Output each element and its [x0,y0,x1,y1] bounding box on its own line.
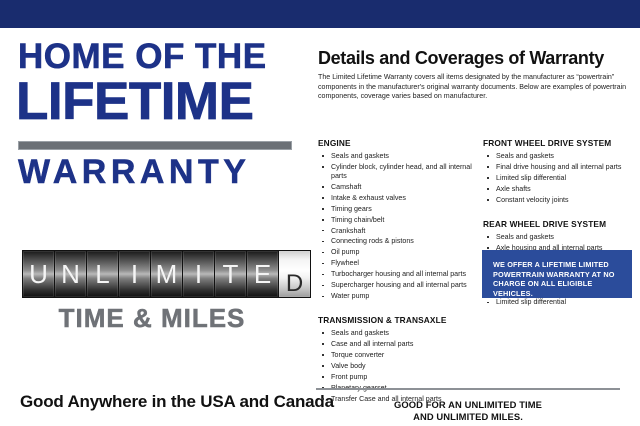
headline-divider-bar [18,141,292,150]
warranty-banner: HOME OF THE LIFETIME WARRANTY U N L I M … [0,0,640,426]
bottom-divider [316,388,620,390]
odometer-tile: I [183,251,214,297]
odometer-tile: N [55,251,86,297]
bottom-note-line-2: AND UNLIMITED MILES. [316,411,620,423]
coverage-list-engine: Seals and gaskets Cylinder block, cylind… [318,152,478,301]
list-item: Valve body [318,362,478,371]
top-blue-bar [0,0,640,28]
headline-warranty: WARRANTY [18,153,303,191]
odometer-tile: U [23,251,54,297]
list-item: Case and all internal parts [318,340,478,349]
odometer-tile-char: N [55,261,86,287]
bottom-note-line-1: GOOD FOR AN UNLIMITED TIME [316,399,620,411]
list-item: Turbocharger housing and all internal pa… [318,270,478,279]
odometer-tile-char: M [151,261,182,287]
good-anywhere-footer: Good Anywhere in the USA and Canada [20,392,300,412]
odometer-tile: E [247,251,278,297]
list-item: Crankshaft [318,227,478,236]
odometer-tile-char: I [183,261,214,287]
list-item: Camshaft [318,183,478,192]
odometer-tile-char: U [23,261,54,287]
odometer-tile-char: L [87,261,118,287]
odometer-tile-rolling: D [279,251,310,297]
list-item: Limited slip differential [483,174,640,183]
list-item: Timing gears [318,205,478,214]
section-heading-rear-wheel-drive: REAR WHEEL DRIVE SYSTEM [483,219,640,230]
list-item: Oil pump [318,248,478,257]
headline-lifetime: LIFETIME [16,75,306,128]
list-item: Final drive housing and all internal par… [483,163,640,172]
odometer-tile-char: E [247,261,278,287]
callout-box: WE OFFER A LIFETIME LIMITED POWERTRAIN W… [482,250,632,298]
list-item: Front pump [318,373,478,382]
list-item: Cylinder block, cylinder head, and all i… [318,163,478,180]
list-item: Limited slip differential [483,298,640,307]
odometer-tile: M [151,251,182,297]
list-item: Water pump [318,292,478,301]
odometer-tile-char: T [215,261,246,287]
section-heading-engine: ENGINE [318,138,478,149]
list-item: Axle shafts [483,185,640,194]
callout-text: WE OFFER A LIFETIME LIMITED POWERTRAIN W… [493,260,625,298]
list-item: Connecting rods & pistons [318,237,478,246]
headline-home-of-the: HOME OF THE [18,39,298,74]
list-item: Supercharger housing and all internal pa… [318,281,478,290]
right-details-panel: Details and Coverages of Warranty The Li… [310,28,640,426]
list-item: Flywheel [318,259,478,268]
coverage-list-transmission: Seals and gaskets Case and all internal … [318,329,478,404]
odometer-tile: T [215,251,246,297]
odometer-tile-char: I [119,261,150,287]
section-heading-transmission: TRANSMISSION & TRANSAXLE [318,315,478,326]
section-heading-front-wheel-drive: FRONT WHEEL DRIVE SYSTEM [483,138,640,149]
list-item: Constant velocity joints [483,196,640,205]
time-and-miles-label: TIME & MILES [22,304,282,332]
coverage-list-front-wheel-drive: Seals and gaskets Final drive housing an… [483,152,640,205]
odometer-tile-char: D [279,272,310,296]
odometer-tile: L [87,251,118,297]
odometer-tile: I [119,251,150,297]
details-title: Details and Coverages of Warranty [318,48,638,68]
bottom-note: GOOD FOR AN UNLIMITED TIME AND UNLIMITED… [316,399,620,422]
coverage-column-left: ENGINE Seals and gaskets Cylinder block,… [318,138,478,406]
left-hero-panel: HOME OF THE LIFETIME WARRANTY U N L I M … [0,28,310,426]
list-item: Seals and gaskets [483,152,640,161]
list-item: Timing chain/belt [318,216,478,225]
list-item: Seals and gaskets [318,329,478,338]
list-item: Seals and gaskets [318,152,478,161]
list-item: Torque converter [318,351,478,360]
odometer-unlimited: U N L I M I T E D [22,250,311,298]
list-item: Seals and gaskets [483,233,640,242]
list-item: Intake & exhaust valves [318,194,478,203]
details-intro-paragraph: The Limited Lifetime Warranty covers all… [318,73,628,102]
